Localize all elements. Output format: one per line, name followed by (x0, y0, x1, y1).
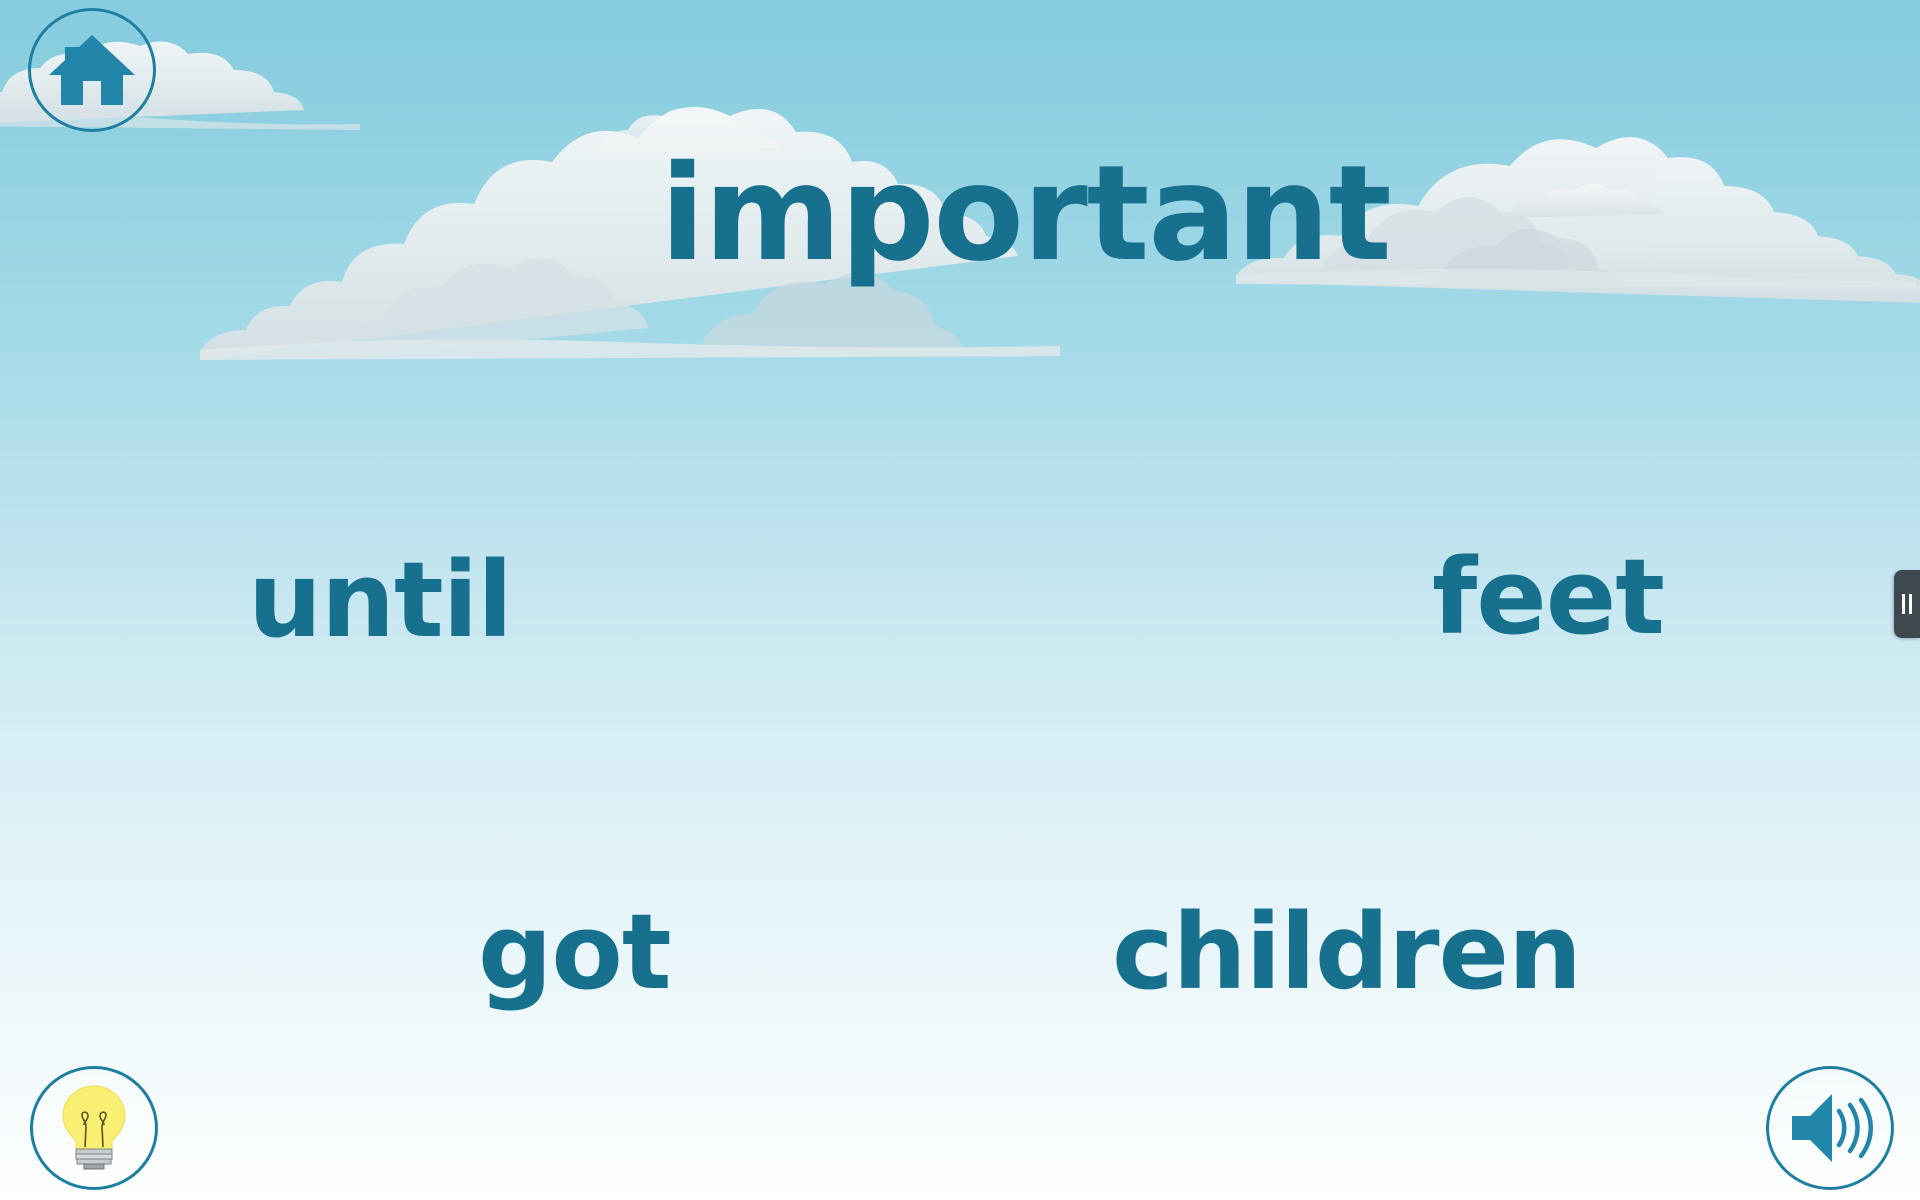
pause-bar-right (1909, 594, 1912, 614)
speaker-icon (1786, 1089, 1874, 1167)
cloud-wisp-top-right (1510, 184, 1664, 218)
choice-word-until[interactable]: until (248, 548, 512, 652)
pause-icon (1902, 594, 1912, 614)
choice-word-got[interactable]: got (478, 900, 671, 1004)
game-stage: important until feet got children (0, 0, 1920, 1200)
choice-word-children[interactable]: children (1112, 900, 1581, 1004)
pause-bar-left (1902, 594, 1905, 614)
home-icon (49, 31, 135, 109)
choice-word-feet[interactable]: feet (1432, 545, 1664, 649)
target-word: important (660, 148, 1390, 280)
hint-button[interactable] (30, 1066, 158, 1190)
home-button[interactable] (28, 8, 156, 132)
pause-button[interactable] (1894, 570, 1920, 638)
lightbulb-icon (58, 1083, 130, 1173)
sound-button[interactable] (1766, 1066, 1894, 1190)
